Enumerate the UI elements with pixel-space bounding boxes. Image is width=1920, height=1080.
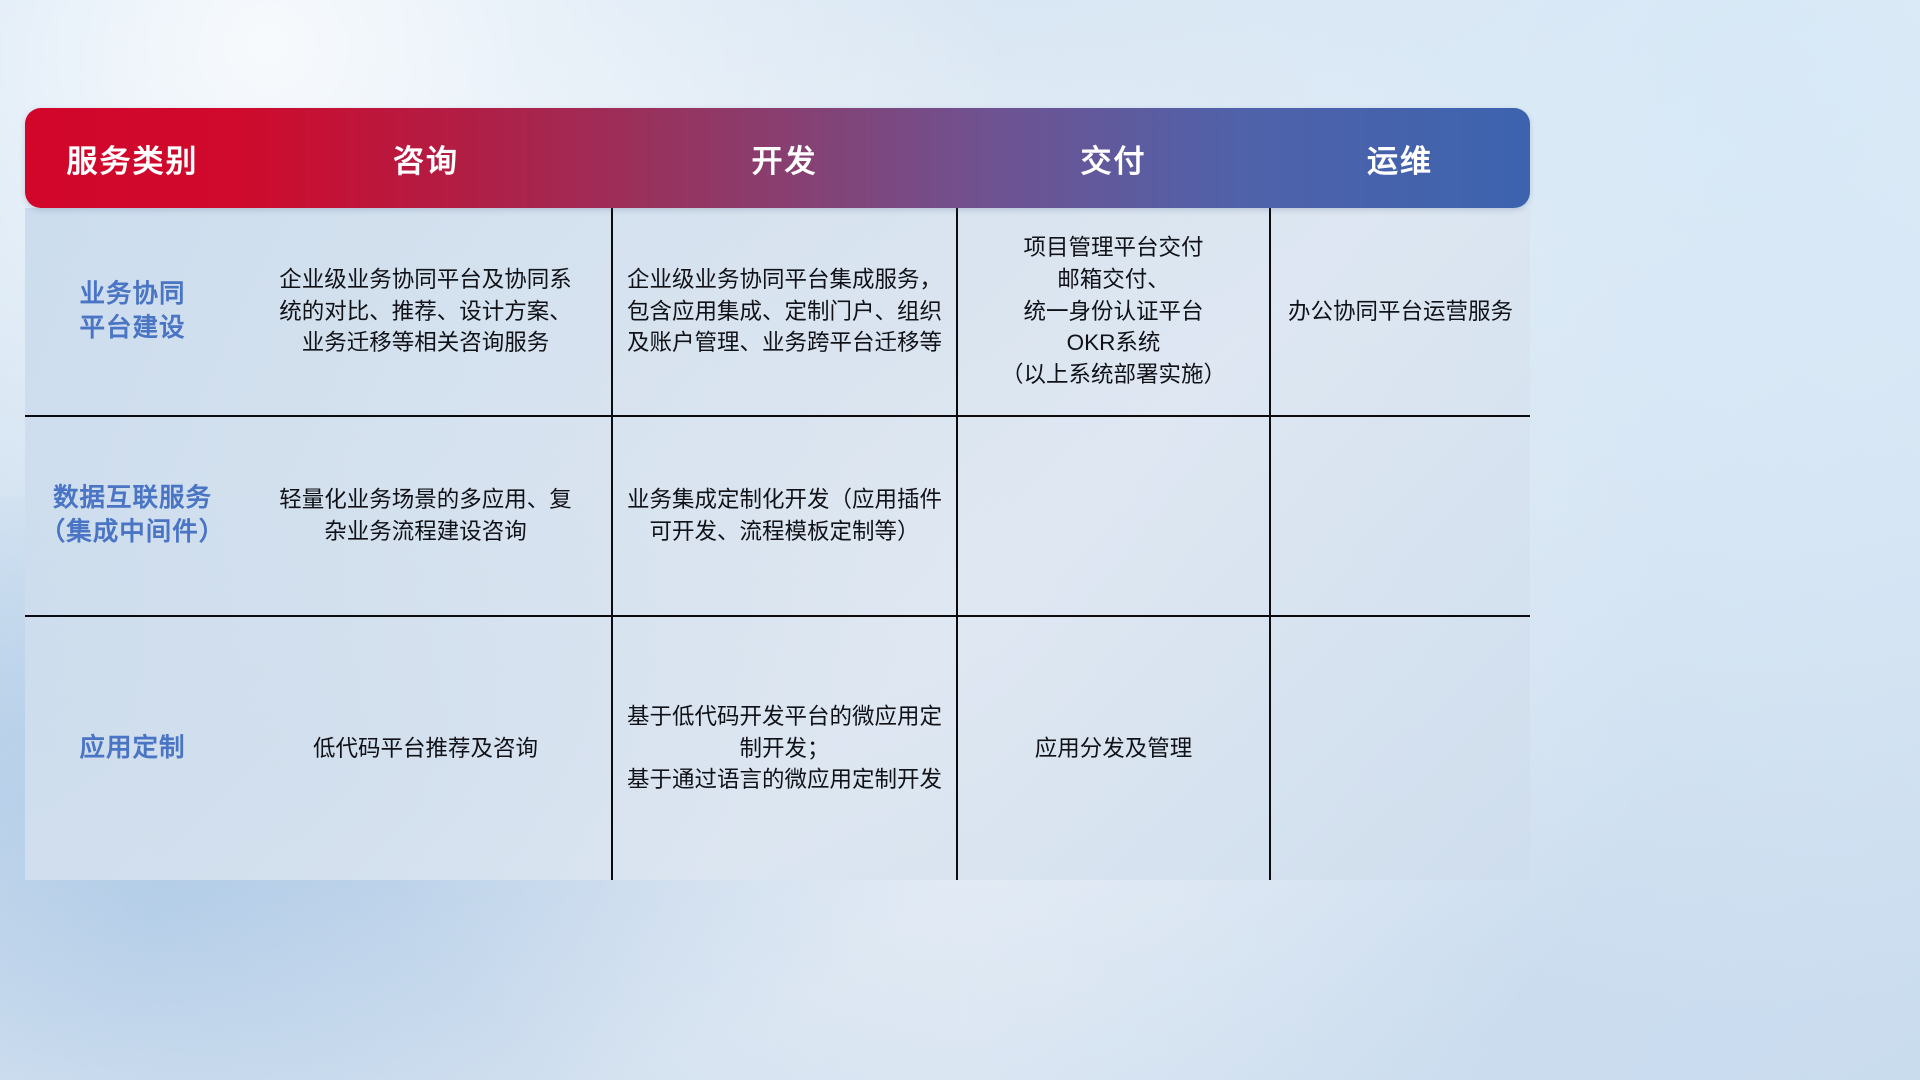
row-category-cell: 业务协同 平台建设 — [25, 208, 240, 416]
cell-operations — [1270, 416, 1530, 616]
table-body: 业务协同 平台建设 企业级业务协同平台及协同系 统的对比、推荐、设计方案、 业务… — [25, 208, 1530, 880]
table-row: 应用定制 低代码平台推荐及咨询 基于低代码开发平台的微应用定 制开发； 基于通过… — [25, 616, 1530, 880]
cell-development: 企业级业务协同平台集成服务， 包含应用集成、定制门户、组织 及账户管理、业务跨平… — [612, 208, 957, 416]
cell-text: 业务集成定制化开发（应用插件 可开发、流程模板定制等） — [625, 484, 944, 548]
service-category-table: 服务类别 咨询 开发 交付 运维 业务协同 平台建设 企业级业务协同平台及协同系… — [25, 108, 1530, 780]
column-header-development: 开发 — [612, 108, 957, 208]
table: 服务类别 咨询 开发 交付 运维 业务协同 平台建设 企业级业务协同平台及协同系… — [25, 108, 1530, 880]
cell-consulting: 企业级业务协同平台及协同系 统的对比、推荐、设计方案、 业务迁移等相关咨询服务 — [240, 208, 612, 416]
cell-operations — [1270, 616, 1530, 880]
cell-text: 办公协同平台运营服务 — [1283, 296, 1518, 328]
cell-development: 业务集成定制化开发（应用插件 可开发、流程模板定制等） — [612, 416, 957, 616]
column-header-delivery: 交付 — [957, 108, 1270, 208]
row-category-cell: 数据互联服务 （集成中间件） — [25, 416, 240, 616]
row-category-cell: 应用定制 — [25, 616, 240, 880]
cell-text: 企业级业务协同平台及协同系 统的对比、推荐、设计方案、 业务迁移等相关咨询服务 — [252, 264, 599, 360]
column-header-operations: 运维 — [1270, 108, 1530, 208]
cell-text: 应用分发及管理 — [970, 733, 1257, 765]
table-row: 业务协同 平台建设 企业级业务协同平台及协同系 统的对比、推荐、设计方案、 业务… — [25, 208, 1530, 416]
cell-text: 基于低代码开发平台的微应用定 制开发； 基于通过语言的微应用定制开发 — [625, 701, 944, 797]
header-row: 服务类别 咨询 开发 交付 运维 — [25, 108, 1530, 208]
column-header-category: 服务类别 — [25, 108, 240, 208]
cell-development: 基于低代码开发平台的微应用定 制开发； 基于通过语言的微应用定制开发 — [612, 616, 957, 880]
cell-consulting: 轻量化业务场景的多应用、复 杂业务流程建设咨询 — [240, 416, 612, 616]
cell-text: 企业级业务协同平台集成服务， 包含应用集成、定制门户、组织 及账户管理、业务跨平… — [625, 264, 944, 360]
cell-delivery — [957, 416, 1270, 616]
row-category-label: 业务协同 平台建设 — [37, 278, 228, 345]
cell-delivery: 项目管理平台交付 邮箱交付、 统一身份认证平台 OKR系统 （以上系统部署实施） — [957, 208, 1270, 416]
cell-text: 项目管理平台交付 邮箱交付、 统一身份认证平台 OKR系统 （以上系统部署实施） — [970, 232, 1257, 392]
row-category-label: 应用定制 — [37, 732, 228, 766]
cell-text: 轻量化业务场景的多应用、复 杂业务流程建设咨询 — [252, 484, 599, 548]
row-category-label: 数据互联服务 （集成中间件） — [37, 482, 228, 549]
cell-consulting: 低代码平台推荐及咨询 — [240, 616, 612, 880]
cell-delivery: 应用分发及管理 — [957, 616, 1270, 880]
cell-operations: 办公协同平台运营服务 — [1270, 208, 1530, 416]
table-header: 服务类别 咨询 开发 交付 运维 — [25, 108, 1530, 208]
table-row: 数据互联服务 （集成中间件） 轻量化业务场景的多应用、复 杂业务流程建设咨询 业… — [25, 416, 1530, 616]
cell-text: 低代码平台推荐及咨询 — [252, 733, 599, 765]
column-header-consulting: 咨询 — [240, 108, 612, 208]
